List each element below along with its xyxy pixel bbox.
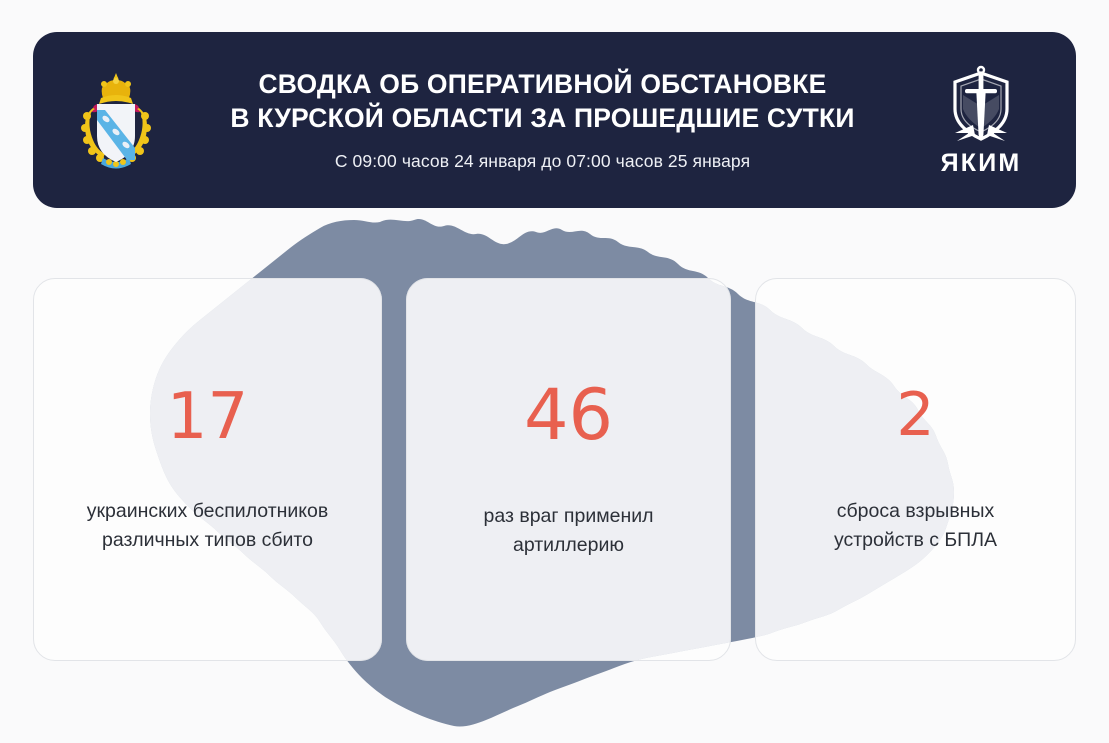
logo-wordmark: ЯКИМ <box>941 151 1022 176</box>
stat-label-explosive-drops: сброса взрывных устройств с БПЛА <box>834 497 997 554</box>
page-title: СВОДКА ОБ ОПЕРАТИВНОЙ ОБСТАНОВКЕ В КУРСК… <box>181 68 904 135</box>
statistics-card-row: 17 украинских беспилотников различных ти… <box>33 278 1076 661</box>
stat-value-artillery: 46 <box>524 380 613 450</box>
header-text-block: СВОДКА ОБ ОПЕРАТИВНОЙ ОБСТАНОВКЕ В КУРСК… <box>171 68 914 171</box>
shield-sword-icon <box>943 65 1019 149</box>
stat-card-artillery: 46 раз враг применил артиллерию <box>406 278 731 661</box>
header-panel: СВОДКА ОБ ОПЕРАТИВНОЙ ОБСТАНОВКЕ В КУРСК… <box>33 32 1076 208</box>
stat-value-explosive-drops: 2 <box>896 385 934 445</box>
stat-card-explosive-drops: 2 сброса взрывных устройств с БПЛА <box>755 278 1076 661</box>
report-period: С 09:00 часов 24 января до 07:00 часов 2… <box>181 151 904 172</box>
yakim-logo: ЯКИМ <box>914 65 1048 176</box>
stat-label-artillery: раз враг применил артиллерию <box>484 502 654 559</box>
stat-card-drones: 17 украинских беспилотников различных ти… <box>33 278 382 661</box>
kursk-oblast-coat-of-arms-icon <box>61 68 171 172</box>
stat-label-drones: украинских беспилотников различных типов… <box>87 497 329 554</box>
infographic-page: СВОДКА ОБ ОПЕРАТИВНОЙ ОБСТАНОВКЕ В КУРСК… <box>0 0 1109 743</box>
stat-value-drones: 17 <box>167 385 248 449</box>
